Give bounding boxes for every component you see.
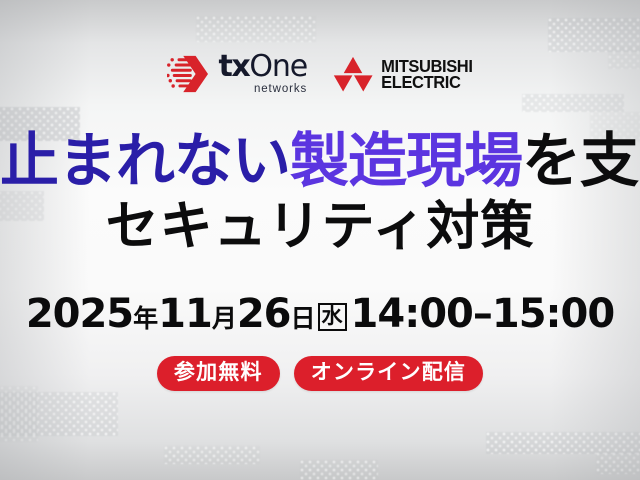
badge-row: 参加無料 オンライン配信	[0, 356, 640, 391]
txone-tagline: networks	[218, 84, 307, 96]
badge-online-delivery: オンライン配信	[294, 356, 483, 391]
date-day: 26	[237, 291, 291, 337]
decorative-texture-block	[596, 452, 640, 474]
decorative-texture-block	[0, 386, 38, 442]
decorative-texture-block	[300, 460, 378, 480]
mitsubishi-three-diamonds-mark	[333, 56, 373, 92]
date-year: 2025	[26, 291, 133, 337]
txone-name-rest: One	[249, 49, 307, 84]
txone-arrow-mark	[167, 54, 209, 94]
txone-name-bold: tx	[218, 49, 249, 84]
time-dash: –	[473, 291, 492, 337]
headline-line-1: 止まれない製造現場を支える	[0, 131, 640, 190]
mitsubishi-electric-logo: MITSUBISHI ELECTRIC	[333, 56, 472, 92]
date-year-unit: 年	[133, 304, 158, 333]
badge-free-entry: 参加無料	[157, 356, 280, 391]
txone-name: txOne	[218, 52, 307, 82]
mitsubishi-wordmark: MITSUBISHI ELECTRIC	[381, 58, 472, 90]
mitsubishi-line2: ELECTRIC	[381, 74, 472, 91]
decorative-texture-block	[486, 432, 640, 454]
headline-line-2: セキュリティ対策	[0, 200, 640, 253]
logo-separator-gap	[307, 73, 333, 74]
decorative-texture-block	[522, 94, 624, 112]
date-month-unit: 月	[212, 304, 237, 333]
date-day-unit: 日	[291, 304, 316, 333]
logo-row: txOne networks MITSUBISHI ELECTRIC	[0, 52, 640, 96]
decorative-texture-block	[196, 16, 316, 42]
time-end: 15:00	[492, 291, 614, 337]
headline-segment-dark-blue: 止まれない	[0, 126, 290, 195]
headline-segment-black: を支える	[522, 126, 640, 195]
decorative-texture-block	[164, 446, 260, 464]
time-start: 14:00	[351, 291, 473, 337]
webinar-title-slide: txOne networks MITSUBISHI ELECTRIC 止まれない…	[0, 0, 640, 480]
date-time-line: 2025年11月26日水14:00–15:00	[0, 294, 640, 334]
txone-networks-logo: txOne networks	[167, 52, 307, 96]
date-weekday-badge: 水	[318, 303, 347, 331]
date-month: 11	[158, 291, 212, 337]
headline-segment-violet: 製造現場	[290, 126, 522, 195]
txone-wordmark: txOne networks	[218, 52, 307, 96]
